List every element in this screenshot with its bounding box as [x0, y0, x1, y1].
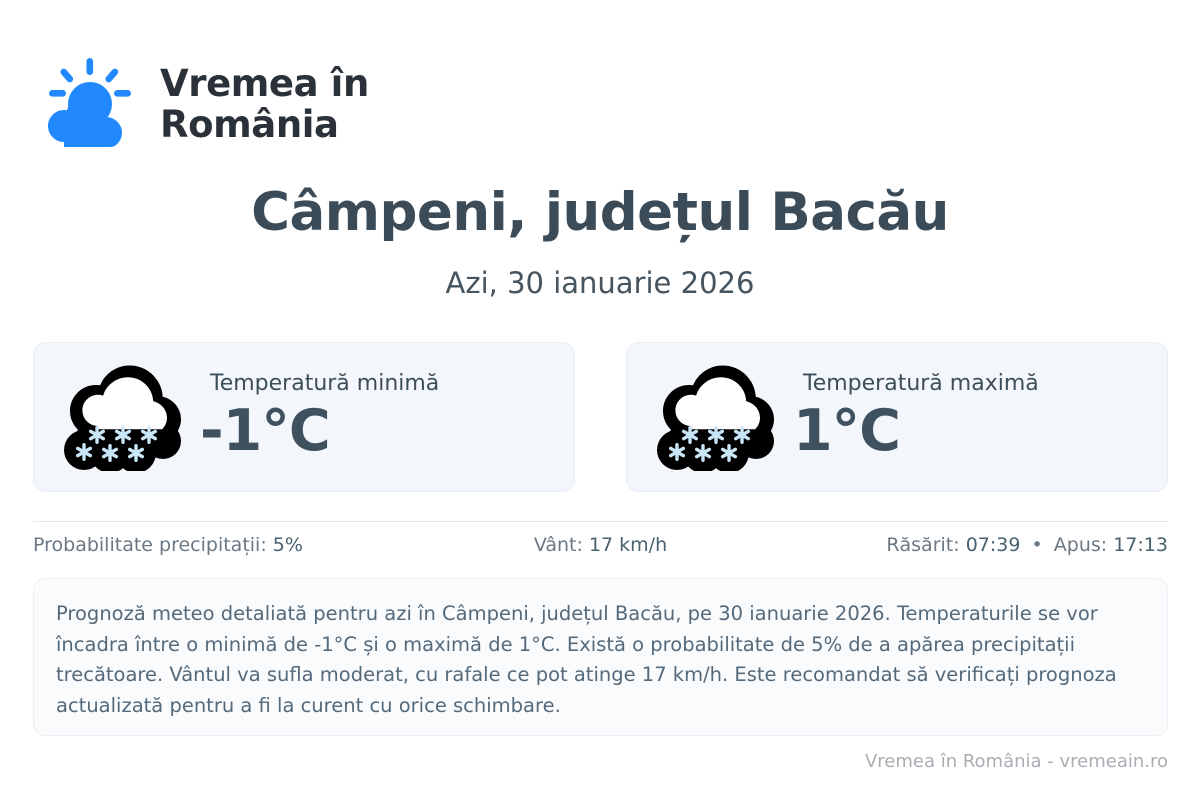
temperature-cards: Temperatură minimă -1°C	[33, 342, 1168, 492]
min-temperature-card: Temperatură minimă -1°C	[33, 342, 575, 492]
sun-times-stat: Răsărit: 07:39 • Apus: 17:13	[790, 534, 1168, 556]
sunrise-value: 07:39	[966, 534, 1021, 556]
sunrise-label: Răsărit:	[886, 534, 959, 556]
sun-behind-cloud-icon	[36, 52, 140, 156]
page-title: Câmpeni, județul Bacău	[0, 182, 1200, 243]
stats-row: Probabilitate precipitații: 5% Vânt: 17 …	[33, 534, 1168, 556]
page-subtitle: Azi, 30 ianuarie 2026	[0, 266, 1200, 300]
precipitation-stat: Probabilitate precipitații: 5%	[33, 534, 411, 556]
wind-value: 17 km/h	[589, 534, 667, 556]
brand-logo[interactable]: Vremea în România	[36, 52, 369, 156]
snow-cloud-icon	[653, 363, 777, 471]
sunset-label: Apus:	[1054, 534, 1107, 556]
max-temperature-body: Temperatură maximă 1°C	[793, 369, 1039, 465]
max-temperature-value: 1°C	[793, 399, 900, 465]
precipitation-value: 5%	[273, 534, 303, 556]
snow-cloud-icon	[60, 363, 184, 471]
brand-name: Vremea în România	[160, 63, 369, 146]
precipitation-label: Probabilitate precipitații:	[33, 534, 267, 556]
footer-credit: Vremea în România - vremeain.ro	[0, 751, 1168, 772]
max-temperature-card: Temperatură maximă 1°C	[626, 342, 1168, 492]
wind-label: Vânt:	[534, 534, 583, 556]
min-temperature-value: -1°C	[200, 399, 330, 465]
min-temperature-label: Temperatură minimă	[200, 371, 439, 397]
stats-divider	[33, 521, 1168, 522]
forecast-description: Prognoză meteo detaliată pentru azi în C…	[33, 578, 1168, 736]
sun-times-separator: •	[1027, 534, 1048, 556]
max-temperature-label: Temperatură maximă	[793, 371, 1039, 397]
wind-stat: Vânt: 17 km/h	[411, 534, 789, 556]
weather-page: Vremea în România Câmpeni, județul Bacău…	[0, 0, 1200, 800]
min-temperature-body: Temperatură minimă -1°C	[200, 369, 439, 465]
sunset-value: 17:13	[1113, 534, 1168, 556]
